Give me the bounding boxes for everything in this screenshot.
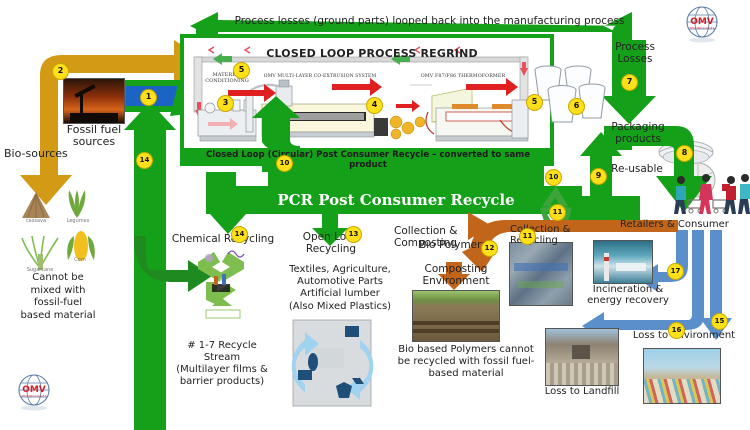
packaging-products-label: Packaging products (600, 122, 676, 146)
composting-environment-photo (412, 290, 500, 342)
step-5-regrind-left: 5 (233, 62, 250, 79)
svg-text:TECHNOLOGIES: TECHNOLOGIES (688, 26, 715, 30)
step-17-incineration: 17 (667, 263, 684, 280)
step-8-to-consumer: 8 (676, 145, 693, 162)
pcr-banner-label: PCR Post Consumer Recycle (236, 191, 556, 209)
step-3-material-conditioning: 3 (217, 95, 234, 112)
closed-loop-title: CLOSED LOOP PROCESS REGRIND (262, 48, 482, 60)
process-losses-label: Process Losses (604, 42, 666, 66)
collection-recycling-photo (509, 242, 573, 306)
top-banner-label: Process losses (ground parts) looped bac… (232, 16, 627, 28)
bio-source-legumes-label: Legumes (60, 219, 96, 225)
step-4-extrusion-to-thermoform: 4 (366, 97, 383, 114)
landfill-photo (545, 328, 619, 386)
step-14-chem-recycle-feed: 14 (136, 152, 153, 169)
chemical-recycling-sub: # 1-7 Recycle Stream (Multilayer films &… (156, 340, 288, 388)
svg-text:TECHNOLOGIES: TECHNOLOGIES (20, 394, 47, 398)
chemical-recycling-label: Chemical Recycling (168, 234, 278, 246)
step-1-fossil-to-process: 1 (140, 89, 157, 106)
step-5-regrind-right: 5 (526, 94, 543, 111)
omv-technologies-logo-top: OMV TECHNOLOGIES (676, 4, 728, 44)
machine-label-coextrusion: OMV MULTI-LAYER CO-EXTRUSION SYSTEM (256, 74, 384, 79)
step-13-open-loop: 13 (345, 226, 362, 243)
reusable-label: Re-usable (606, 164, 668, 176)
chemical-recycling-icon (198, 251, 244, 318)
composting-environment-label: Composting Environment (414, 264, 498, 288)
machine-label-thermoformer: OMV F87/F86 THERMOFORMER (398, 74, 528, 79)
step-2-bio-to-process: 2 (52, 63, 69, 80)
bio-source-corn-label: Corn (64, 258, 96, 264)
bio-warning-label: Cannot be mixed with fossil-fuel based m… (6, 272, 110, 322)
closed-loop-footer: Closed Loop (Circular) Post Consumer Rec… (190, 151, 546, 170)
bio-source-cassava-label: cassava (16, 219, 56, 225)
bio-source-cassava-image (16, 190, 56, 220)
incineration-label: Incineration & energy recovery (580, 284, 676, 306)
diagram-canvas: Process losses (ground parts) looped bac… (0, 0, 750, 430)
step-12-bio-polymers: 12 (481, 240, 498, 257)
open-loop-sub: Textiles, Agriculture, Automotive Parts … (278, 264, 402, 313)
step-16-loss-landfill: 16 (668, 322, 685, 339)
step-11-recycle-symbol: 11 (549, 204, 566, 221)
omv-technologies-logo-bottom: OMV TECHNOLOGIES (8, 372, 60, 414)
step-15-loss-environment: 15 (711, 313, 728, 330)
loss-to-environment-photo (643, 348, 721, 404)
bio-source-legumes-image (62, 188, 92, 220)
step-10-closed-loop-return: 10 (276, 155, 293, 172)
bio-source-sugarcane-image (18, 228, 64, 270)
step-10-pcr-return: 10 (545, 169, 562, 186)
step-6-packaging-cups: 6 (568, 98, 585, 115)
step-9-reusable: 9 (590, 168, 607, 185)
loop-right-limb (602, 22, 656, 124)
fossil-fuel-label: Fossil fuel sources (50, 124, 138, 149)
bio-sources-label: Bio-sources (4, 148, 104, 160)
incineration-photo (593, 240, 653, 284)
fossil-fuel-photo (63, 78, 125, 124)
bio-warning2-label: Bio based Polymers cannot be recycled wi… (396, 344, 536, 381)
open-loop-diagram (292, 320, 374, 406)
step-11-collection-recycling: 11 (519, 228, 536, 245)
retailers-consumer-label: Retailers & Consumer (620, 219, 750, 230)
step-7-process-losses: 7 (621, 74, 638, 91)
step-14-chemical-recycling: 14 (231, 226, 248, 243)
loss-landfill-label: Loss to Landfill (540, 386, 624, 397)
